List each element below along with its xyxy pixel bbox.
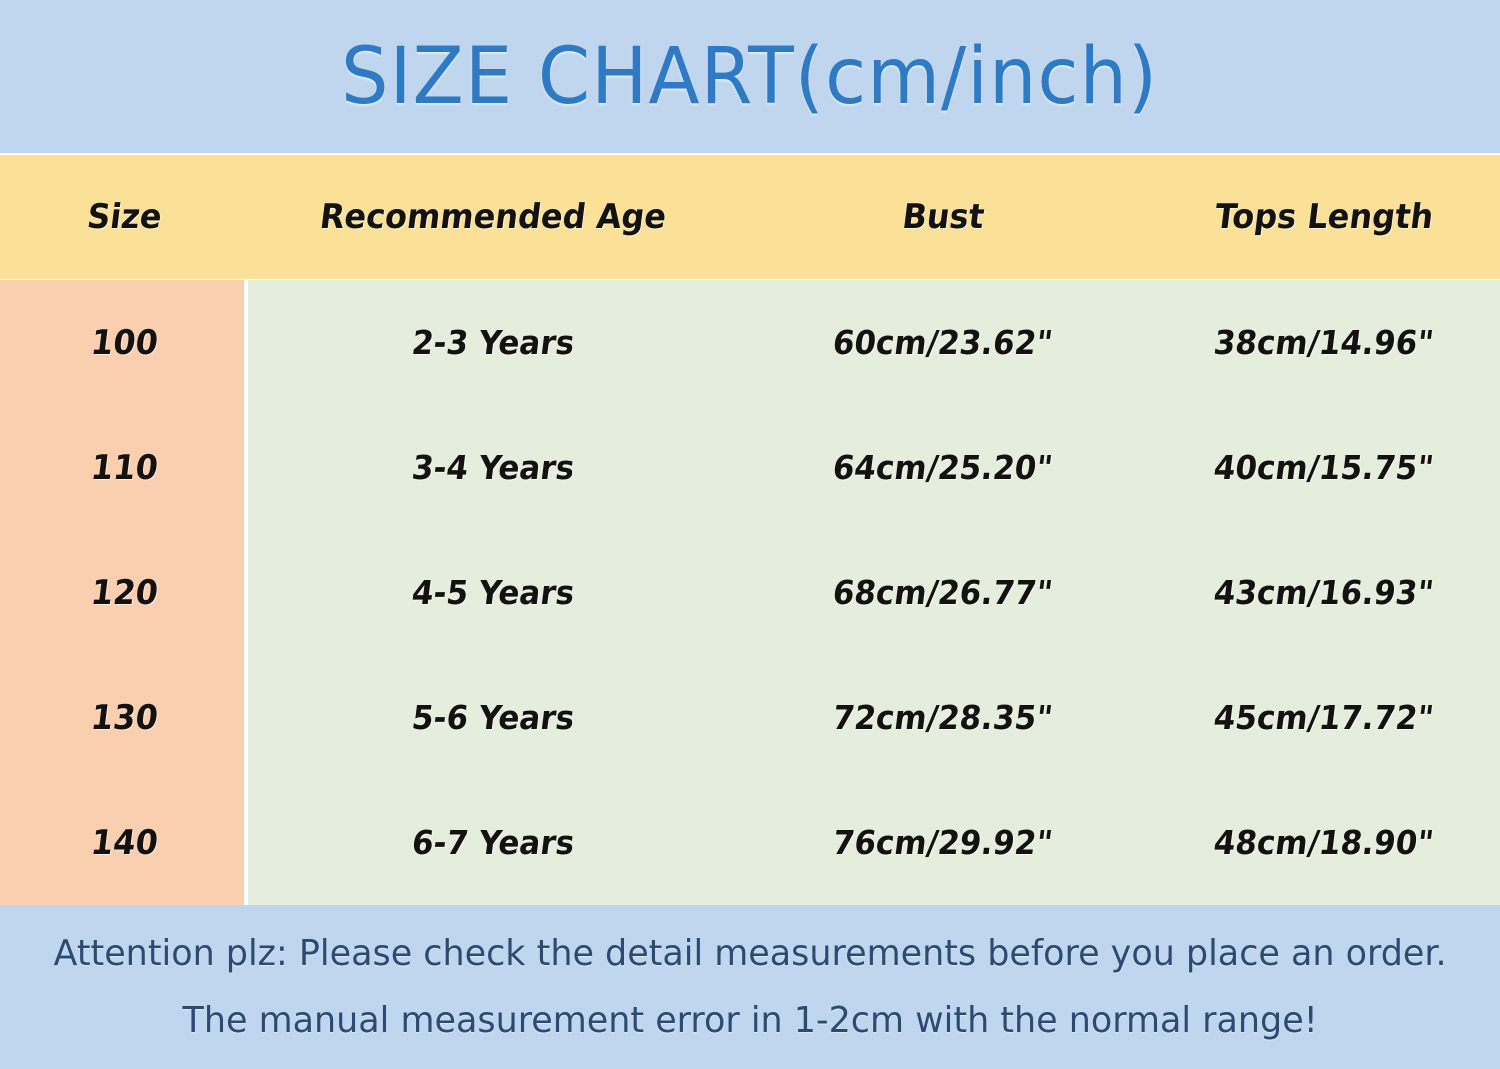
cell-recommended-age: 4-5 Years — [248, 530, 738, 655]
column-header-size: Size — [0, 155, 248, 279]
column-header-tops-length-label: Tops Length — [1212, 197, 1435, 237]
column-header-bust-label: Bust — [900, 197, 986, 237]
cell-recommended-age: 3-4 Years — [248, 405, 738, 530]
column-header-recommended-age: Recommended Age — [248, 155, 738, 279]
column-header-tops-length: Tops Length — [1148, 155, 1500, 279]
attention-note-line-1: Attention plz: Please check the detail m… — [53, 933, 1446, 974]
cell-size: 100 — [0, 280, 248, 405]
table-body: 100 2-3 Years 60cm/23.62" 38cm/14.96" 11… — [0, 280, 1500, 905]
table-row: 140 6-7 Years 76cm/29.92" 48cm/18.90" — [0, 780, 1500, 905]
cell-tops-length-value: 45cm/17.72" — [1212, 698, 1436, 737]
cell-bust-value: 72cm/28.35" — [831, 698, 1055, 737]
cell-bust: 76cm/29.92" — [738, 780, 1148, 905]
cell-bust: 60cm/23.62" — [738, 280, 1148, 405]
cell-tops-length: 38cm/14.96" — [1148, 280, 1500, 405]
cell-recommended-age-value: 3-4 Years — [410, 448, 577, 487]
cell-size: 120 — [0, 530, 248, 655]
cell-recommended-age: 6-7 Years — [248, 780, 738, 905]
size-chart-image: SIZE CHART(cm/inch) Size Recommended Age… — [0, 0, 1500, 1069]
cell-tops-length-value: 38cm/14.96" — [1212, 323, 1436, 362]
cell-bust: 72cm/28.35" — [738, 655, 1148, 780]
cell-tops-length: 48cm/18.90" — [1148, 780, 1500, 905]
cell-recommended-age-value: 5-6 Years — [410, 698, 577, 737]
table-row: 130 5-6 Years 72cm/28.35" 45cm/17.72" — [0, 655, 1500, 780]
cell-tops-length-value: 40cm/15.75" — [1212, 448, 1436, 487]
cell-size: 130 — [0, 655, 248, 780]
table-header-row: Size Recommended Age Bust Tops Length — [0, 155, 1500, 279]
cell-size-value: 140 — [88, 823, 160, 863]
cell-size-value: 100 — [88, 323, 160, 363]
column-header-bust: Bust — [738, 155, 1148, 279]
cell-size: 110 — [0, 405, 248, 530]
attention-note-line-2: The manual measurement error in 1-2cm wi… — [182, 1000, 1317, 1041]
cell-recommended-age: 5-6 Years — [248, 655, 738, 780]
cell-bust: 64cm/25.20" — [738, 405, 1148, 530]
title-banner: SIZE CHART(cm/inch) — [0, 0, 1500, 153]
cell-size-value: 120 — [88, 573, 160, 613]
cell-bust: 68cm/26.77" — [738, 530, 1148, 655]
cell-recommended-age: 2-3 Years — [248, 280, 738, 405]
cell-recommended-age-value: 4-5 Years — [410, 573, 577, 612]
table-row: 110 3-4 Years 64cm/25.20" 40cm/15.75" — [0, 405, 1500, 530]
column-header-recommended-age-label: Recommended Age — [318, 197, 669, 237]
cell-recommended-age-value: 2-3 Years — [410, 323, 577, 362]
cell-bust-value: 68cm/26.77" — [831, 573, 1055, 612]
cell-size-value: 110 — [88, 448, 160, 488]
cell-bust-value: 60cm/23.62" — [831, 323, 1055, 362]
cell-tops-length-value: 43cm/16.93" — [1212, 573, 1436, 612]
cell-size-value: 130 — [88, 698, 160, 738]
cell-bust-value: 76cm/29.92" — [831, 823, 1055, 862]
cell-tops-length: 43cm/16.93" — [1148, 530, 1500, 655]
cell-recommended-age-value: 6-7 Years — [410, 823, 577, 862]
cell-tops-length: 40cm/15.75" — [1148, 405, 1500, 530]
footer-note-banner: Attention plz: Please check the detail m… — [0, 905, 1500, 1069]
table-row: 120 4-5 Years 68cm/26.77" 43cm/16.93" — [0, 530, 1500, 655]
page-title: SIZE CHART(cm/inch) — [341, 32, 1158, 122]
table-row: 100 2-3 Years 60cm/23.62" 38cm/14.96" — [0, 280, 1500, 405]
cell-tops-length-value: 48cm/18.90" — [1212, 823, 1436, 862]
cell-size: 140 — [0, 780, 248, 905]
cell-bust-value: 64cm/25.20" — [831, 448, 1055, 487]
cell-tops-length: 45cm/17.72" — [1148, 655, 1500, 780]
column-header-size-label: Size — [84, 197, 163, 237]
